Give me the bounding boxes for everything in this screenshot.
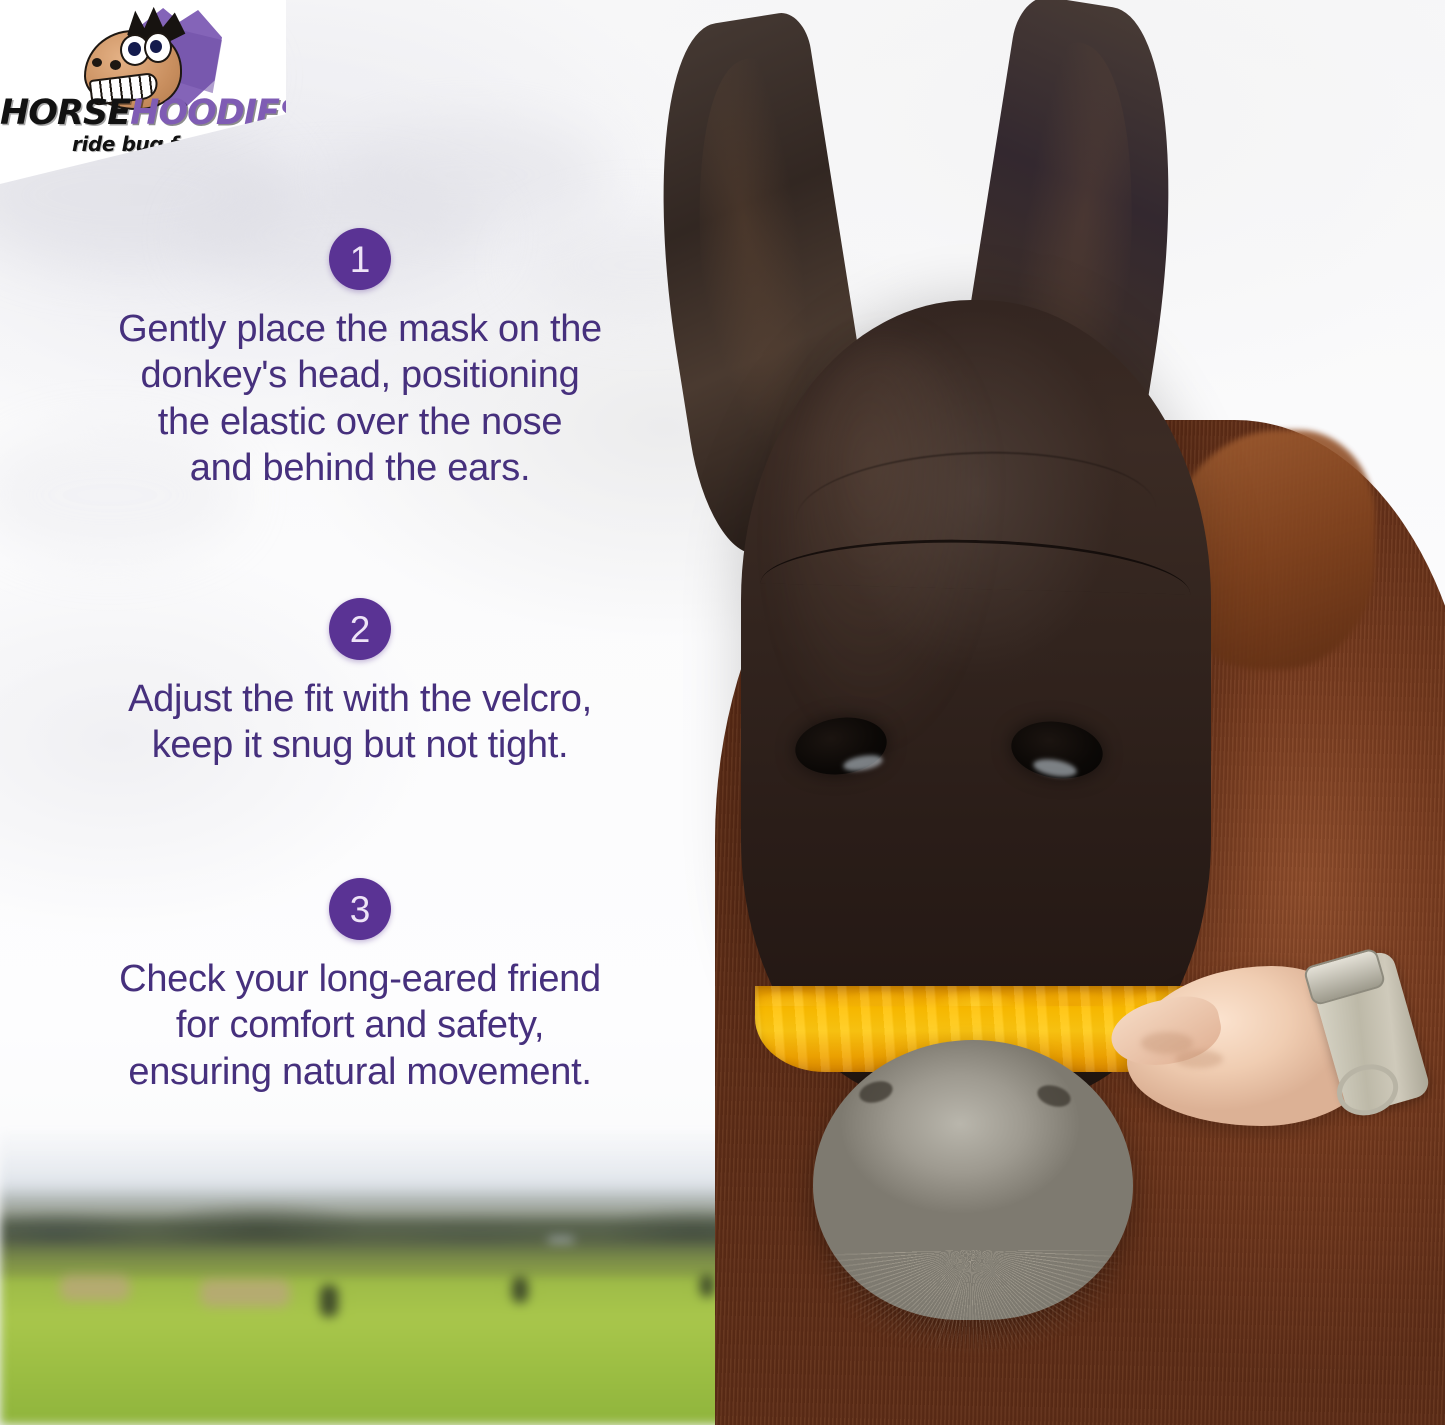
horse-nostril <box>110 60 121 70</box>
step-1: 1 Gently place the mask on the donkey's … <box>0 228 720 491</box>
step-2-badge: 2 <box>329 598 391 660</box>
step-2: 2 Adjust the fit with the velcro, keep i… <box>0 598 720 769</box>
step-3-badge: 3 <box>329 878 391 940</box>
step-2-text: Adjust the fit with the velcro, keep it … <box>60 676 660 769</box>
donkey-photo <box>645 0 1445 1425</box>
instruction-steps: 1 Gently place the mask on the donkey's … <box>0 0 720 1425</box>
whiskers <box>771 1250 1171 1400</box>
horse-pupil <box>150 40 162 53</box>
watch-keeper-ring <box>1331 1057 1404 1122</box>
watch-buckle <box>1302 947 1386 1006</box>
horse-pupil <box>128 42 141 56</box>
human-hand <box>1113 940 1445 1170</box>
brand-word-horse: HORSE <box>0 93 130 133</box>
step-1-badge: 1 <box>329 228 391 290</box>
knuckle-shading <box>1175 1050 1223 1068</box>
step-1-text: Gently place the mask on the donkey's he… <box>60 306 660 491</box>
step-3-text: Check your long-eared friend for comfort… <box>60 956 660 1095</box>
step-3: 3 Check your long-eared friend for comfo… <box>0 878 720 1095</box>
horse-nostril <box>92 58 102 67</box>
instruction-graphic: HORSEHOODIES ride bug free 1 Gently plac… <box>0 0 1445 1425</box>
